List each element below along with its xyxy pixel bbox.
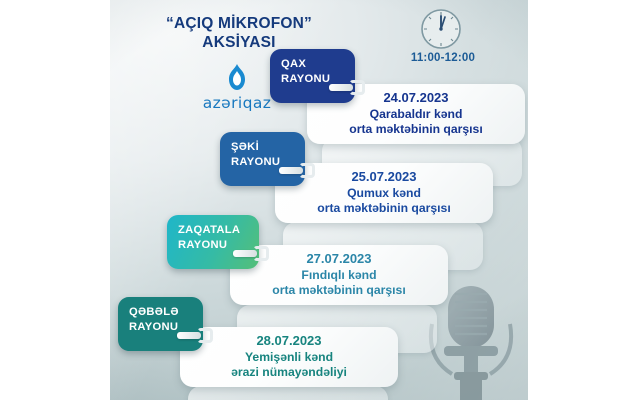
district-line-1: QƏBƏLƏ — [129, 306, 179, 318]
title-line-1: “AÇIQ MİKROFON” — [166, 15, 312, 32]
district-line-2: RAYONU — [129, 321, 178, 333]
district-tag-zaqatala[interactable]: ZAQATALA RAYONU — [167, 215, 259, 269]
event-date: 24.07.2023 — [383, 89, 448, 106]
event-place-line-1: Qumux kənd — [347, 186, 421, 202]
event-date: 27.07.2023 — [306, 250, 371, 267]
district-line-2: RAYONU — [178, 239, 227, 251]
district-line-1: QAX — [281, 58, 306, 70]
page-title: “AÇIQ MİKROFON” AKSİYASI — [124, 14, 354, 52]
district-line-2: RAYONU — [281, 73, 330, 85]
event-place-line-2: orta məktəbinin qarşısı — [317, 201, 450, 217]
event-place-line-2: orta məktəbinin qarşısı — [272, 283, 405, 299]
district-tag-seki[interactable]: ŞƏKİ RAYONU — [220, 132, 305, 186]
district-tag-qebele[interactable]: QƏBƏLƏ RAYONU — [118, 297, 203, 351]
card-backdrop — [188, 386, 388, 400]
time-range-label: 11:00-12:00 — [398, 52, 488, 64]
clock-icon — [420, 8, 462, 50]
link-hook-icon — [233, 246, 269, 261]
district-tag-qax[interactable]: QAX RAYONU — [270, 49, 355, 103]
district-line-1: ŞƏKİ — [231, 141, 259, 153]
event-poster: “AÇIQ MİKROFON” AKSİYASI azəriqaz 11:00-… — [110, 0, 528, 400]
event-place-line-1: Yemişənli kənd — [245, 350, 333, 366]
screenshot-canvas: “AÇIQ MİKROFON” AKSİYASI azəriqaz 11:00-… — [0, 0, 637, 400]
link-hook-icon — [329, 80, 365, 95]
event-place-line-2: orta məktəbinin qarşısı — [349, 122, 482, 138]
event-place-line-2: ərazi nümayəndəliyi — [231, 365, 347, 381]
district-line-2: RAYONU — [231, 156, 280, 168]
event-place-line-1: Qarabaldır kənd — [370, 107, 463, 123]
event-date: 25.07.2023 — [351, 168, 416, 185]
link-hook-icon — [279, 163, 315, 178]
link-hook-icon — [177, 328, 213, 343]
event-place-line-1: Fındıqlı kənd — [301, 268, 376, 284]
flame-icon — [226, 64, 248, 90]
event-date: 28.07.2023 — [256, 332, 321, 349]
district-line-1: ZAQATALA — [178, 224, 240, 236]
